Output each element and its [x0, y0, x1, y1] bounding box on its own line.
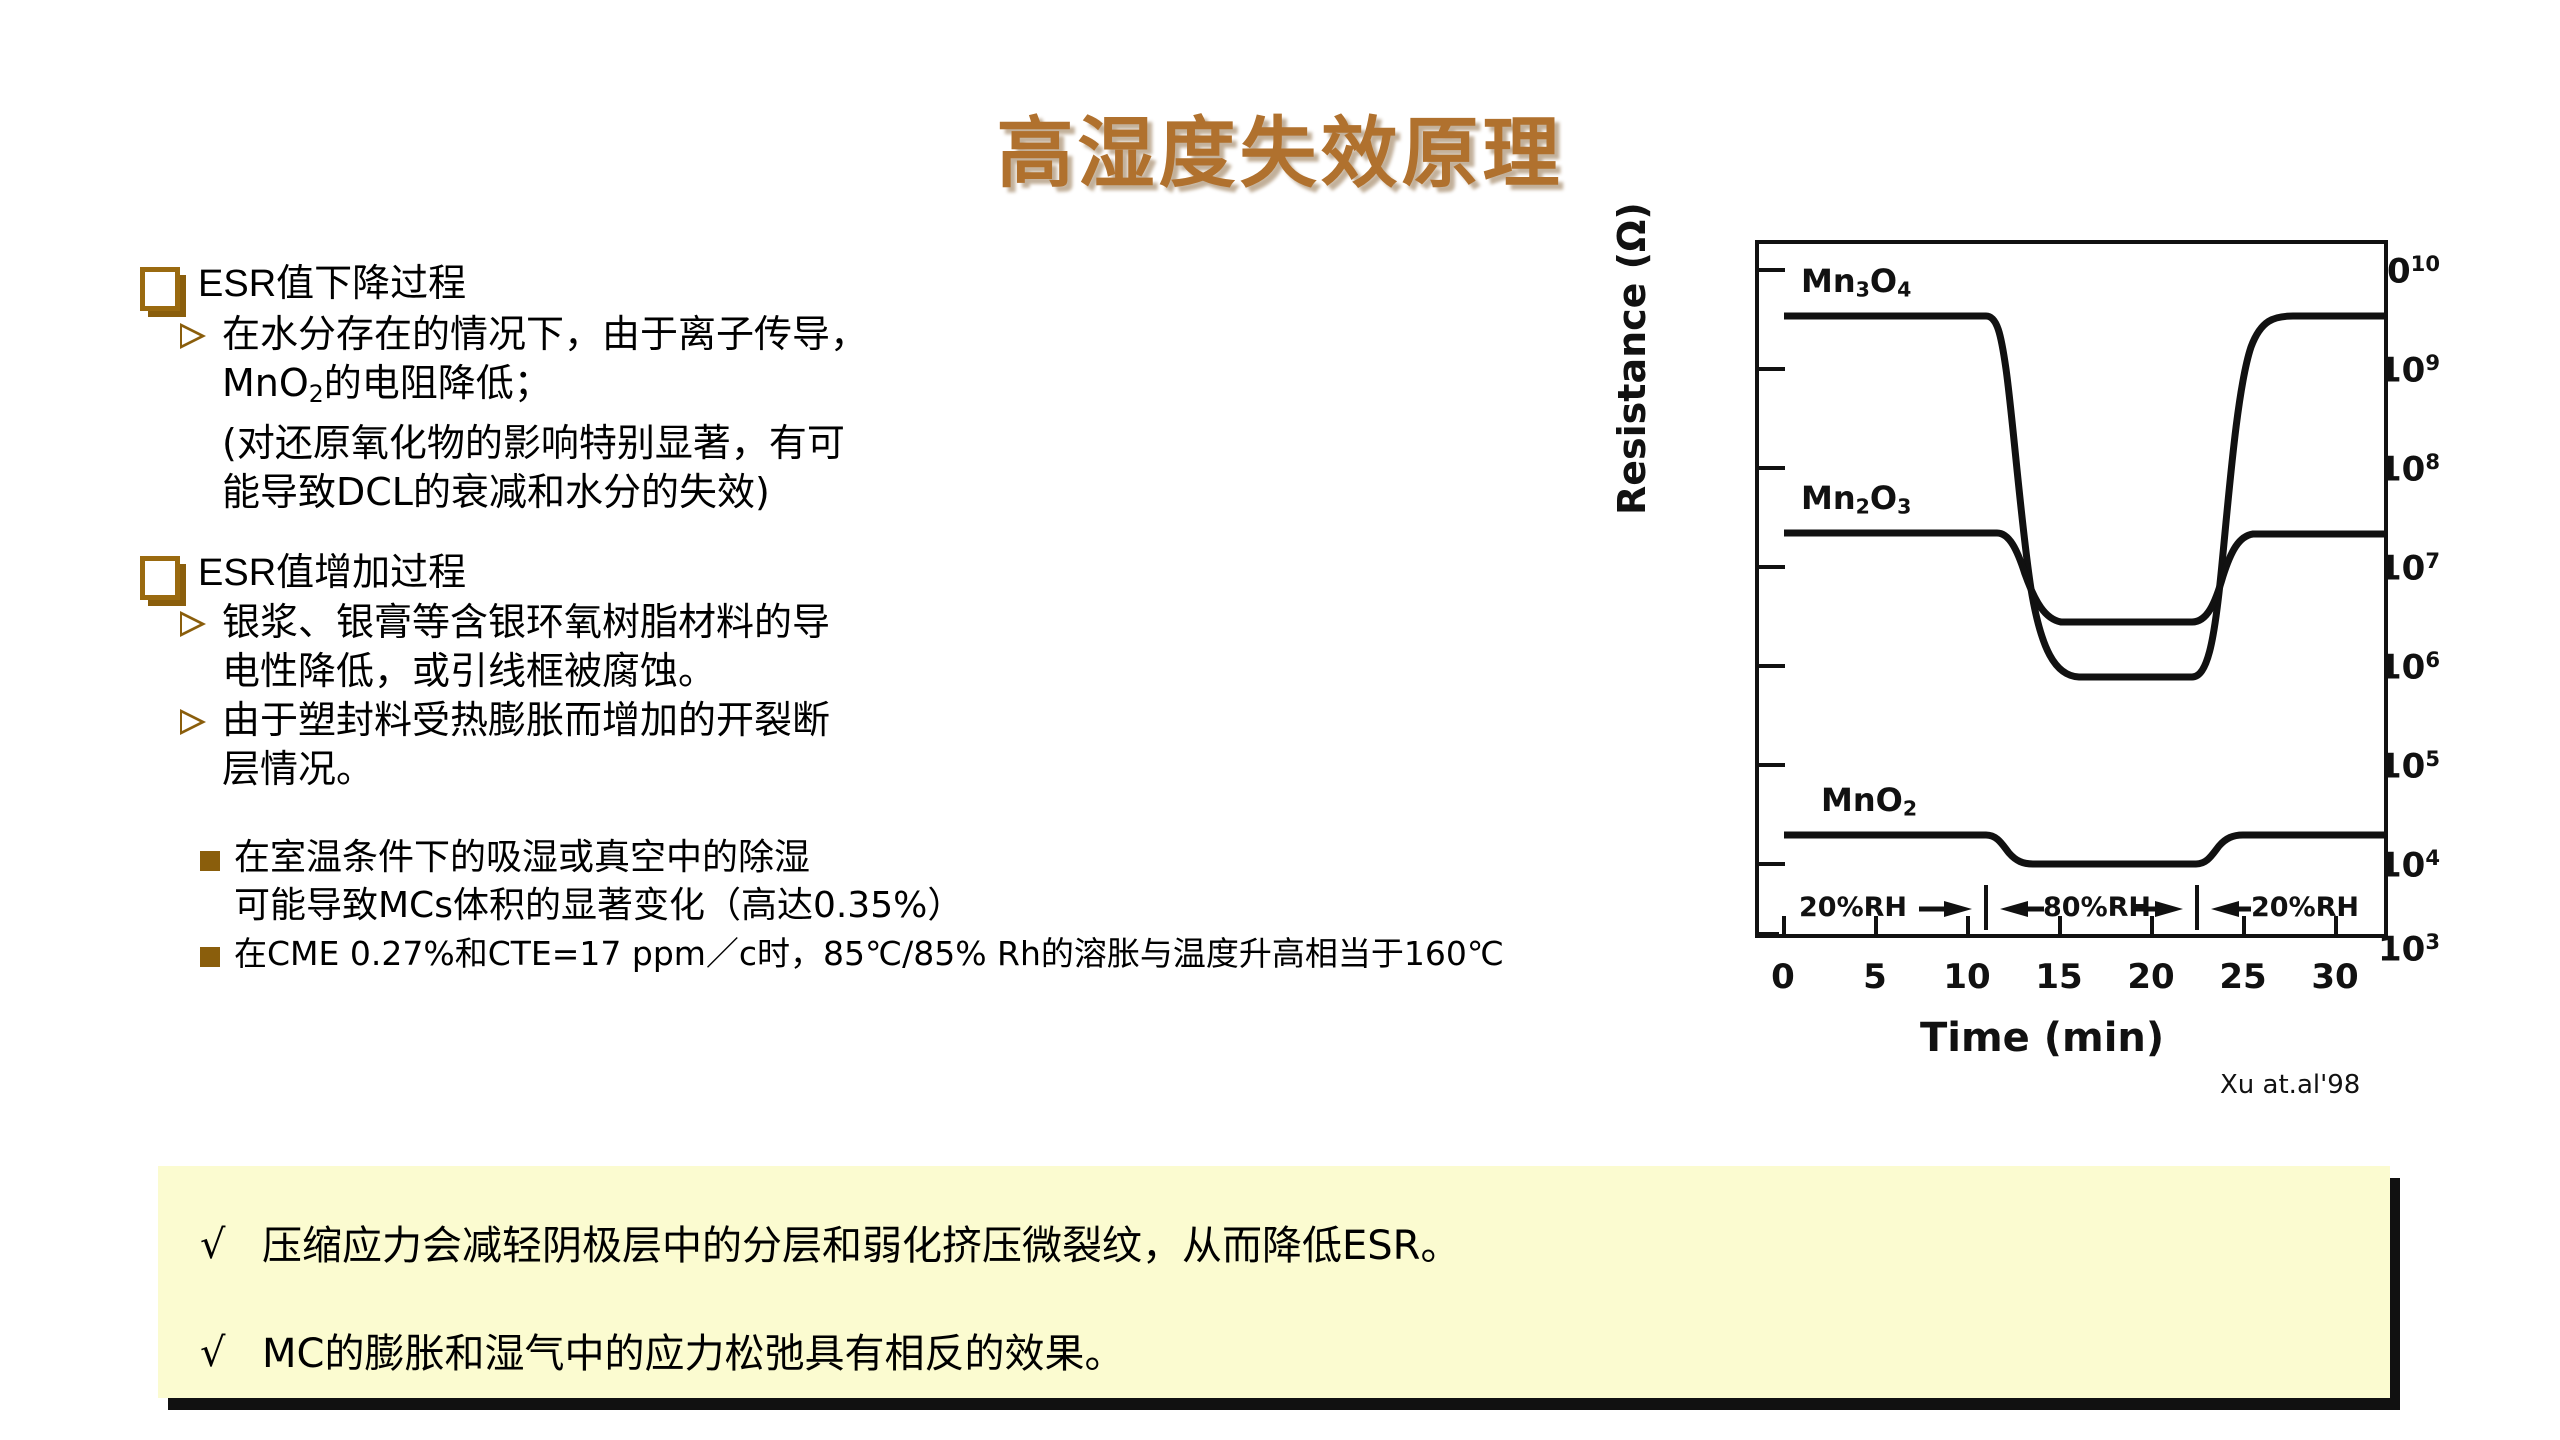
block2-item2-line-2: 层情况。: [222, 745, 1220, 794]
slide-root: 高湿度失效原理 ESR值下降过程 在水分存在的情况下，由于离子传导， MnO2的…: [0, 0, 2560, 1440]
chart-x-axis-label: Time (min): [1920, 1015, 2164, 1061]
content-block-esr-decrease: ESR值下降过程 在水分存在的情况下，由于离子传导， MnO2的电阻降低； (对…: [140, 262, 1220, 517]
block3-item2-row: 在CME 0.27%和CTE=17 ppm／c时，85℃/85% Rh的溶胀与温…: [200, 930, 1220, 978]
callout-item-1: √ 压缩应力会减轻阴极层中的分层和弱化挤压微裂纹，从而降低ESR。: [200, 1222, 2390, 1270]
block3-item1-row: 在室温条件下的吸湿或真空中的除湿 可能导致MCs体积的显著变化（高达0.35%）: [200, 834, 1220, 930]
left-content-column: ESR值下降过程 在水分存在的情况下，由于离子传导， MnO2的电阻降低； (对…: [140, 262, 1220, 978]
content-block-esr-increase: ESR值增加过程 银浆、银膏等含银环氧树脂材料的导 电性降低，或引线框被腐蚀。 …: [140, 551, 1220, 795]
curve-mno2: [1784, 835, 2384, 864]
check-glyph-icon: √: [200, 1222, 226, 1268]
block1-line-1: 在水分存在的情况下，由于离子传导，: [222, 310, 1220, 359]
block1-line-4: 能导致DCL的衰减和水分的失效): [222, 468, 1220, 517]
page-title: 高湿度失效原理: [0, 92, 2560, 203]
block1-detail-text: 在水分存在的情况下，由于离子传导， MnO2的电阻降低； (对还原氧化物的影响特…: [222, 310, 1220, 517]
arrow-bullet-icon: [180, 709, 206, 735]
rh-annotation-1: 20%RH: [1799, 892, 1907, 923]
rh-annotation-2: 80%RH: [2043, 892, 2151, 923]
content-block-moisture: 在室温条件下的吸湿或真空中的除湿 可能导致MCs体积的显著变化（高达0.35%）…: [140, 834, 1220, 978]
chart-svg: [1759, 244, 2388, 938]
square-bullet-icon: [140, 556, 180, 600]
check-glyph-icon: √: [200, 1330, 226, 1376]
square-bullet-icon: [140, 267, 180, 311]
x-tick-10: 10: [1943, 957, 1990, 997]
spacer-1: [140, 517, 1220, 551]
x-tick-30: 30: [2311, 957, 2358, 997]
rh-annotation-3: 20%RH: [2251, 892, 2359, 923]
curve-label-mno2: MnO2: [1821, 781, 1917, 821]
block1-heading: ESR值下降过程: [198, 262, 1220, 308]
block2-heading: ESR值增加过程: [198, 551, 1220, 597]
block2-detail-row-2: 由于塑封料受热膨胀而增加的开裂断 层情况。: [180, 696, 1220, 794]
x-tick-0: 0: [1771, 957, 1795, 997]
resistance-vs-time-chart: Resistance (Ω) 1010 109 108 107 106 105 …: [1620, 215, 2440, 1095]
callout-item-2: √ MC的膨胀和湿气中的应力松弛具有相反的效果。: [200, 1330, 2390, 1378]
curve-label-mn3o4: Mn3O4: [1801, 262, 1911, 302]
y-axis-ticks: [1759, 270, 1785, 934]
spacer-2: [140, 794, 1220, 834]
arrow-bullet-icon: [180, 611, 206, 637]
callout-item-2-text: MC的膨胀和湿气中的应力松弛具有相反的效果。: [262, 1330, 2390, 1378]
chart-y-axis-label: Resistance (Ω): [1610, 202, 1654, 515]
subscript-2: 2: [309, 380, 324, 408]
block2-item1-text: 银浆、银膏等含银环氧树脂材料的导 电性降低，或引线框被腐蚀。: [222, 598, 1220, 696]
chart-plot-area: Mn3O4 Mn2O3 MnO2 20%RH 80%RH 20%RH: [1755, 240, 2388, 938]
arrow-bullet-icon: [180, 323, 206, 349]
block3-item2-line-1: 在CME 0.27%和CTE=17 ppm／c时，85℃/85% Rh的溶胀与温…: [234, 930, 1220, 978]
small-square-bullet-icon: [200, 851, 220, 871]
x-tick-5: 5: [1863, 957, 1887, 997]
block3-item1-text: 在室温条件下的吸湿或真空中的除湿 可能导致MCs体积的显著变化（高达0.35%）: [234, 834, 1220, 930]
curve-label-mn2o3: Mn2O3: [1801, 479, 1911, 519]
curve-mn2o3: [1784, 533, 2384, 622]
block3-item2-text: 在CME 0.27%和CTE=17 ppm／c时，85℃/85% Rh的溶胀与温…: [234, 930, 1220, 978]
block3-item1-line-1: 在室温条件下的吸湿或真空中的除湿: [234, 834, 1220, 882]
x-tick-15: 15: [2035, 957, 2082, 997]
block2-item1-line-2: 电性降低，或引线框被腐蚀。: [222, 647, 1220, 696]
callout-item-1-text: 压缩应力会减轻阴极层中的分层和弱化挤压微裂纹，从而降低ESR。: [262, 1222, 2390, 1270]
block1-line-2: MnO2的电阻降低；: [222, 359, 1220, 419]
block1-detail-row: 在水分存在的情况下，由于离子传导， MnO2的电阻降低； (对还原氧化物的影响特…: [180, 310, 1220, 517]
x-tick-20: 20: [2127, 957, 2174, 997]
callout-box: √ 压缩应力会减轻阴极层中的分层和弱化挤压微裂纹，从而降低ESR。 √ MC的膨…: [158, 1166, 2390, 1398]
x-tick-25: 25: [2219, 957, 2266, 997]
chart-credit: Xu at.al'98: [2220, 1070, 2360, 1100]
block2-item1-line-1: 银浆、银膏等含银环氧树脂材料的导: [222, 598, 1220, 647]
small-square-bullet-icon: [200, 947, 220, 967]
block3-item1-line-2: 可能导致MCs体积的显著变化（高达0.35%）: [234, 882, 1220, 930]
block2-item2-line-1: 由于塑封料受热膨胀而增加的开裂断: [222, 696, 1220, 745]
block1-line-3: (对还原氧化物的影响特别显著，有可: [222, 419, 1220, 468]
block2-item2-text: 由于塑封料受热膨胀而增加的开裂断 层情况。: [222, 696, 1220, 794]
block2-detail-row-1: 银浆、银膏等含银环氧树脂材料的导 电性降低，或引线框被腐蚀。: [180, 598, 1220, 696]
